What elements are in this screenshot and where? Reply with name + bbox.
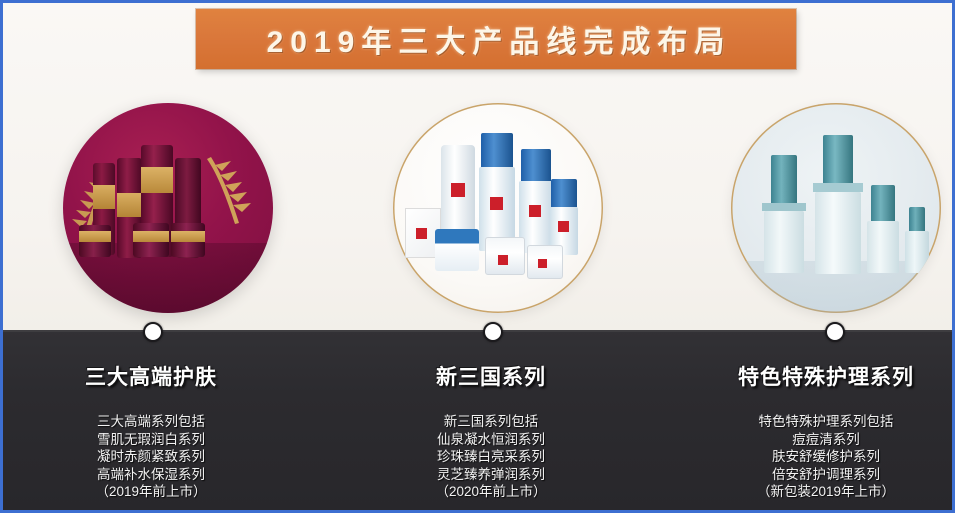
timeline-marker-2[interactable] [483,322,503,342]
teal-cap-3 [871,185,895,223]
red-logo-jar-1 [498,255,508,265]
red-logo-tube [451,183,465,197]
teal-cap-1 [771,155,797,205]
page-title: 2019年三大产品线完成布局 [261,17,732,61]
product-serum-teal [905,231,929,273]
product-bottle-teal-1 [764,211,804,273]
column-title: 特色特殊护理系列 [668,361,952,391]
teal-collar-2 [813,183,863,192]
gold-band-jar-3 [171,231,205,242]
red-logo-bottle-1 [490,197,503,210]
column-line: （新包装2019年上市） [668,483,952,501]
red-logo-sachet [416,228,427,239]
teal-cap-2 [823,135,853,187]
red-logo-bottle-3 [558,221,569,232]
slide-title-banner: 2019年三大产品线完成布局 [196,9,796,69]
product-circle-new-series[interactable] [393,103,603,313]
column-new-series: 新三国系列 新三国系列包括 仙泉凝水恒润系列 珍珠臻白亮采系列 灵芝臻养弹润系列… [333,361,649,501]
column-line: 特色特殊护理系列包括 [668,413,952,431]
column-line: 痘痘清系列 [668,431,952,449]
column-special-care: 特色特殊护理系列 特色特殊护理系列包括 痘痘清系列 肤安舒缓修护系列 倍安舒护调… [668,361,952,501]
gold-wheat-leaf-right [201,151,255,234]
column-line: 肤安舒缓修护系列 [668,448,952,466]
gold-band-jar-1 [79,231,111,242]
blue-cap-2 [521,149,551,181]
teal-cap-4 [909,207,925,233]
column-title: 三大高端护肤 [3,361,309,391]
column-line: 倍安舒护调理系列 [668,466,952,484]
red-logo-jar-2 [538,259,547,268]
column-line: （2019年前上市） [3,483,309,501]
gold-band-2 [117,193,142,217]
product-bottle-teal-2 [815,192,861,274]
slide-canvas: 三大高端护肤 三大高端系列包括 雪肌无瑕润白系列 凝时赤颜紧致系列 高端补水保湿… [3,3,952,510]
red-logo-bottle-2 [529,205,541,217]
gold-band-3 [141,167,173,193]
gold-band-jar-2 [133,231,169,242]
blue-cap-1 [481,133,513,167]
column-line: 新三国系列包括 [333,413,649,431]
column-line: 珍珠臻白亮采系列 [333,448,649,466]
teal-collar-1 [762,203,806,211]
column-line: 雪肌无瑕润白系列 [3,431,309,449]
product-jar-blue [435,229,479,271]
product-circle-special-care[interactable] [731,103,941,313]
gold-band-1 [93,185,115,209]
column-line: （2020年前上市） [333,483,649,501]
column-title: 新三国系列 [333,361,649,391]
column-line: 灵芝臻养弹润系列 [333,466,649,484]
column-line: 三大高端系列包括 [3,413,309,431]
blue-cap-3 [551,179,577,207]
product-circle-luxury[interactable] [63,103,273,313]
product-bottle-teal-3 [867,221,899,273]
timeline-marker-1[interactable] [143,322,163,342]
column-line: 凝时赤颜紧致系列 [3,448,309,466]
column-line: 高端补水保湿系列 [3,466,309,484]
column-luxury: 三大高端护肤 三大高端系列包括 雪肌无瑕润白系列 凝时赤颜紧致系列 高端补水保湿… [3,361,309,501]
column-line: 仙泉凝水恒润系列 [333,431,649,449]
timeline-marker-3[interactable] [825,322,845,342]
